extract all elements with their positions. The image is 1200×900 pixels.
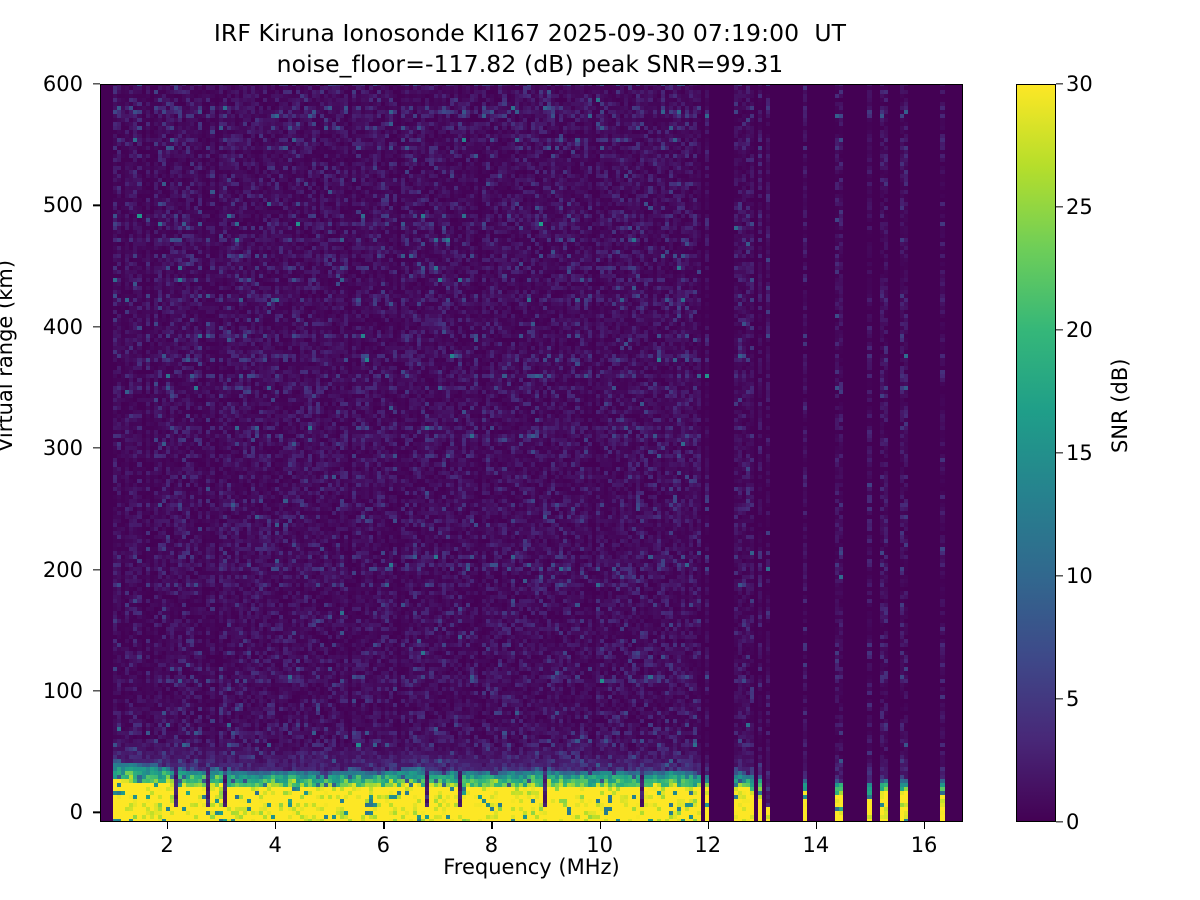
colorbar-tick-mark: [1056, 329, 1063, 330]
x-tick-label: 2: [137, 833, 197, 857]
y-tick-mark: [93, 83, 100, 84]
x-tick-label: 6: [353, 833, 413, 857]
y-tick-mark: [93, 569, 100, 570]
y-tick-label: 100: [3, 679, 83, 703]
x-tick-label: 8: [461, 833, 521, 857]
colorbar-gradient: [1017, 85, 1055, 821]
y-tick-mark: [93, 205, 100, 206]
ionogram-plot-area[interactable]: [100, 84, 963, 822]
ionogram-figure: IRF Kiruna Ionosonde KI167 2025-09-30 07…: [0, 0, 1200, 900]
colorbar-tick-mark: [1056, 575, 1063, 576]
y-tick-label: 600: [3, 72, 83, 96]
x-tick-mark: [816, 822, 817, 829]
colorbar-tick-label: 5: [1066, 687, 1079, 711]
y-tick-label: 500: [3, 193, 83, 217]
x-tick-label: 10: [570, 833, 630, 857]
x-axis-label: Frequency (MHz): [100, 855, 963, 879]
colorbar-tick-label: 30: [1066, 72, 1093, 96]
y-axis-label: Virtual range (km): [0, 260, 17, 452]
y-tick-label: 200: [3, 558, 83, 582]
x-tick-mark: [275, 822, 276, 829]
colorbar-tick-mark: [1056, 452, 1063, 453]
x-tick-mark: [924, 822, 925, 829]
y-tick-label: 0: [3, 800, 83, 824]
title-line-2: noise_floor=-117.82 (dB) peak SNR=99.31: [0, 49, 1060, 80]
ionogram-heatmap: [101, 85, 963, 822]
colorbar-tick-mark: [1056, 206, 1063, 207]
colorbar-tick-label: 15: [1066, 441, 1093, 465]
colorbar-tick-label: 0: [1066, 810, 1079, 834]
y-tick-mark: [93, 447, 100, 448]
colorbar: [1016, 84, 1056, 822]
colorbar-label: SNR (dB): [1108, 359, 1132, 453]
x-tick-mark: [167, 822, 168, 829]
y-tick-mark: [93, 326, 100, 327]
colorbar-tick-label: 25: [1066, 195, 1093, 219]
title-line-1: IRF Kiruna Ionosonde KI167 2025-09-30 07…: [0, 18, 1060, 49]
x-tick-mark: [383, 822, 384, 829]
x-tick-mark: [708, 822, 709, 829]
x-tick-label: 4: [245, 833, 305, 857]
colorbar-tick-label: 10: [1066, 564, 1093, 588]
x-tick-mark: [600, 822, 601, 829]
y-tick-mark: [93, 690, 100, 691]
colorbar-tick-mark: [1056, 821, 1063, 822]
x-tick-label: 12: [678, 833, 738, 857]
x-tick-mark: [491, 822, 492, 829]
plot-title: IRF Kiruna Ionosonde KI167 2025-09-30 07…: [0, 18, 1060, 79]
colorbar-tick-label: 20: [1066, 318, 1093, 342]
y-tick-mark: [93, 812, 100, 813]
colorbar-tick-mark: [1056, 83, 1063, 84]
x-tick-label: 16: [894, 833, 954, 857]
x-tick-label: 14: [786, 833, 846, 857]
colorbar-tick-mark: [1056, 698, 1063, 699]
